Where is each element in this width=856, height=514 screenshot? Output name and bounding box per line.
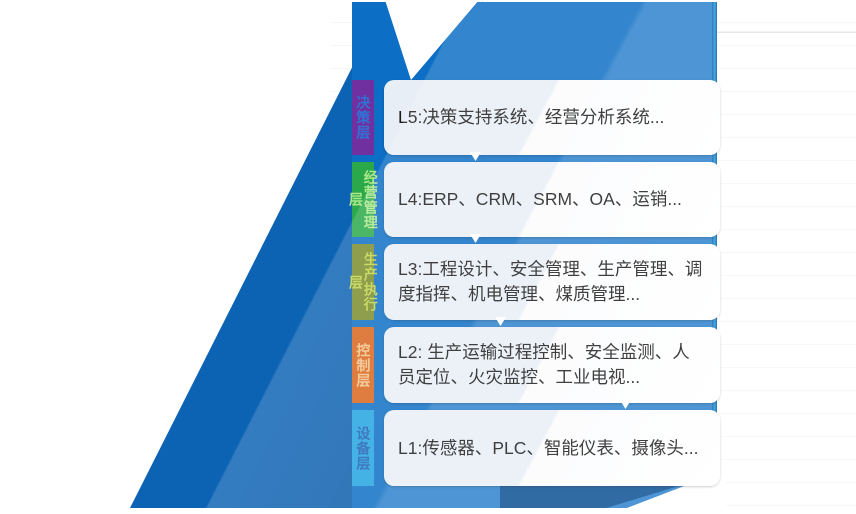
layer-card-l3[interactable]: L3:工程设计、安全管理、生产管理、调度指挥、机电管理、煤质管理... bbox=[384, 244, 720, 320]
layer-row-l3[interactable]: 生产执行层L3:工程设计、安全管理、生产管理、调度指挥、机电管理、煤质管理... bbox=[352, 244, 720, 320]
diagram-canvas: 决策层L5:决策支持系统、经营分析系统...经营管理层L4:ERP、CRM、SR… bbox=[0, 0, 856, 514]
layer-tab-l2[interactable]: 控制层 bbox=[352, 327, 374, 403]
layer-tab-l3[interactable]: 生产执行层 bbox=[352, 244, 374, 320]
layer-card-text-l5: L5:决策支持系统、经营分析系统... bbox=[398, 105, 664, 130]
layer-card-text-l1: L1:传感器、PLC、智能仪表、摄像头... bbox=[398, 436, 698, 461]
layer-card-text-l2: L2: 生产运输过程控制、安全监测、人员定位、火灾监控、工业电视... bbox=[398, 340, 706, 390]
down-arrow-icon-3 bbox=[495, 317, 506, 326]
layer-tab-l1[interactable]: 设备层 bbox=[352, 410, 374, 486]
layer-card-l4[interactable]: L4:ERP、CRM、SRM、OA、运销... bbox=[384, 162, 720, 237]
layer-rows: 决策层L5:决策支持系统、经营分析系统...经营管理层L4:ERP、CRM、SR… bbox=[0, 0, 856, 514]
layer-row-l5[interactable]: 决策层L5:决策支持系统、经营分析系统... bbox=[352, 80, 720, 155]
layer-tab-l5[interactable]: 决策层 bbox=[352, 80, 374, 155]
layer-row-l2[interactable]: 控制层L2: 生产运输过程控制、安全监测、人员定位、火灾监控、工业电视... bbox=[352, 327, 720, 403]
layer-card-l5[interactable]: L5:决策支持系统、经营分析系统... bbox=[384, 80, 720, 155]
layer-card-text-l3: L3:工程设计、安全管理、生产管理、调度指挥、机电管理、煤质管理... bbox=[398, 257, 706, 307]
layer-row-l1[interactable]: 设备层L1:传感器、PLC、智能仪表、摄像头... bbox=[352, 410, 720, 486]
layer-card-text-l4: L4:ERP、CRM、SRM、OA、运销... bbox=[398, 187, 682, 212]
layer-card-l1[interactable]: L1:传感器、PLC、智能仪表、摄像头... bbox=[384, 410, 720, 486]
layer-row-l4[interactable]: 经营管理层L4:ERP、CRM、SRM、OA、运销... bbox=[352, 162, 720, 237]
down-arrow-icon-1 bbox=[470, 152, 481, 161]
down-arrow-icon-2 bbox=[470, 234, 481, 243]
layer-tab-l4[interactable]: 经营管理层 bbox=[352, 162, 374, 237]
down-arrow-icon-4 bbox=[620, 400, 631, 409]
layer-card-l2[interactable]: L2: 生产运输过程控制、安全监测、人员定位、火灾监控、工业电视... bbox=[384, 327, 720, 403]
